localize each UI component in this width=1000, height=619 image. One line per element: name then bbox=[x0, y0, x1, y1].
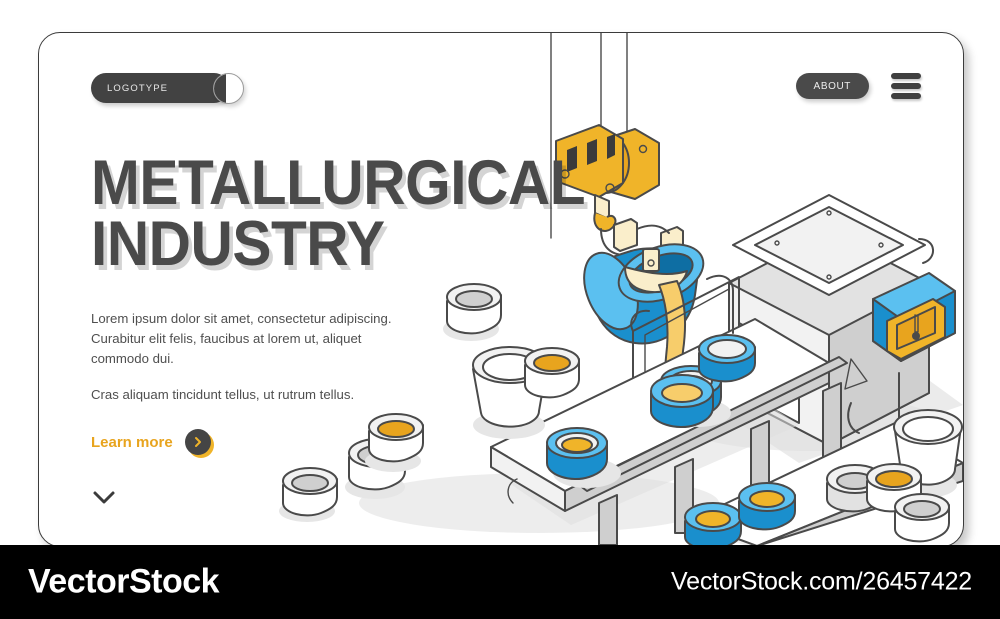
header-nav: ABOUT bbox=[796, 73, 921, 99]
crucible-ring bbox=[895, 494, 949, 541]
mold-cup bbox=[739, 483, 795, 529]
learn-more-button[interactable]: Learn more bbox=[91, 429, 211, 455]
about-button-label: ABOUT bbox=[814, 81, 851, 92]
hero-paragraph-1: Lorem ipsum dolor sit amet, consectetur … bbox=[91, 309, 421, 369]
about-button[interactable]: ABOUT bbox=[796, 73, 869, 99]
menu-bar-2 bbox=[891, 83, 921, 89]
page-title: METALLURGICAL INDUSTRY bbox=[91, 153, 444, 275]
vectorstock-watermark-bar: VectorStock VectorStock.com/26457422 bbox=[0, 545, 1000, 619]
learn-more-label: Learn more bbox=[91, 434, 173, 451]
mold-cup bbox=[699, 335, 755, 381]
watermark-url: VectorStock.com/26457422 bbox=[671, 568, 972, 597]
headline-line-2: INDUSTRY bbox=[91, 214, 444, 275]
logo-circle-mark-icon bbox=[213, 73, 244, 104]
chevron-down-icon[interactable] bbox=[91, 488, 117, 510]
menu-bar-1 bbox=[891, 73, 921, 79]
watermark-brand: VectorStock bbox=[28, 563, 219, 602]
crucible-ring-gold bbox=[525, 348, 579, 397]
mold-cup bbox=[685, 503, 741, 546]
crucible-ring bbox=[279, 468, 337, 522]
hero-section: METALLURGICAL INDUSTRY Lorem ipsum dolor… bbox=[91, 153, 471, 455]
hero-paragraph-2: Cras aliquam tincidunt tellus, ut rutrum… bbox=[91, 385, 421, 405]
hero-body-copy: Lorem ipsum dolor sit amet, consectetur … bbox=[91, 309, 421, 405]
mold-cup-receiving bbox=[651, 375, 713, 427]
logotype[interactable]: LOGOTYPE bbox=[91, 73, 244, 103]
landing-page-card: .ln { fill:none; stroke:#4a4a4a; stroke-… bbox=[38, 32, 964, 547]
logotype-pill[interactable]: LOGOTYPE bbox=[91, 73, 229, 103]
cta-disc bbox=[185, 429, 211, 455]
menu-bar-3 bbox=[891, 93, 921, 99]
chevron-right-icon bbox=[185, 429, 211, 455]
headline-line-1: METALLURGICAL bbox=[91, 148, 585, 218]
logotype-label: LOGOTYPE bbox=[107, 83, 168, 94]
screenshot-stage: .ln { fill:none; stroke:#4a4a4a; stroke-… bbox=[0, 0, 1000, 619]
hamburger-menu-icon[interactable] bbox=[891, 73, 921, 99]
